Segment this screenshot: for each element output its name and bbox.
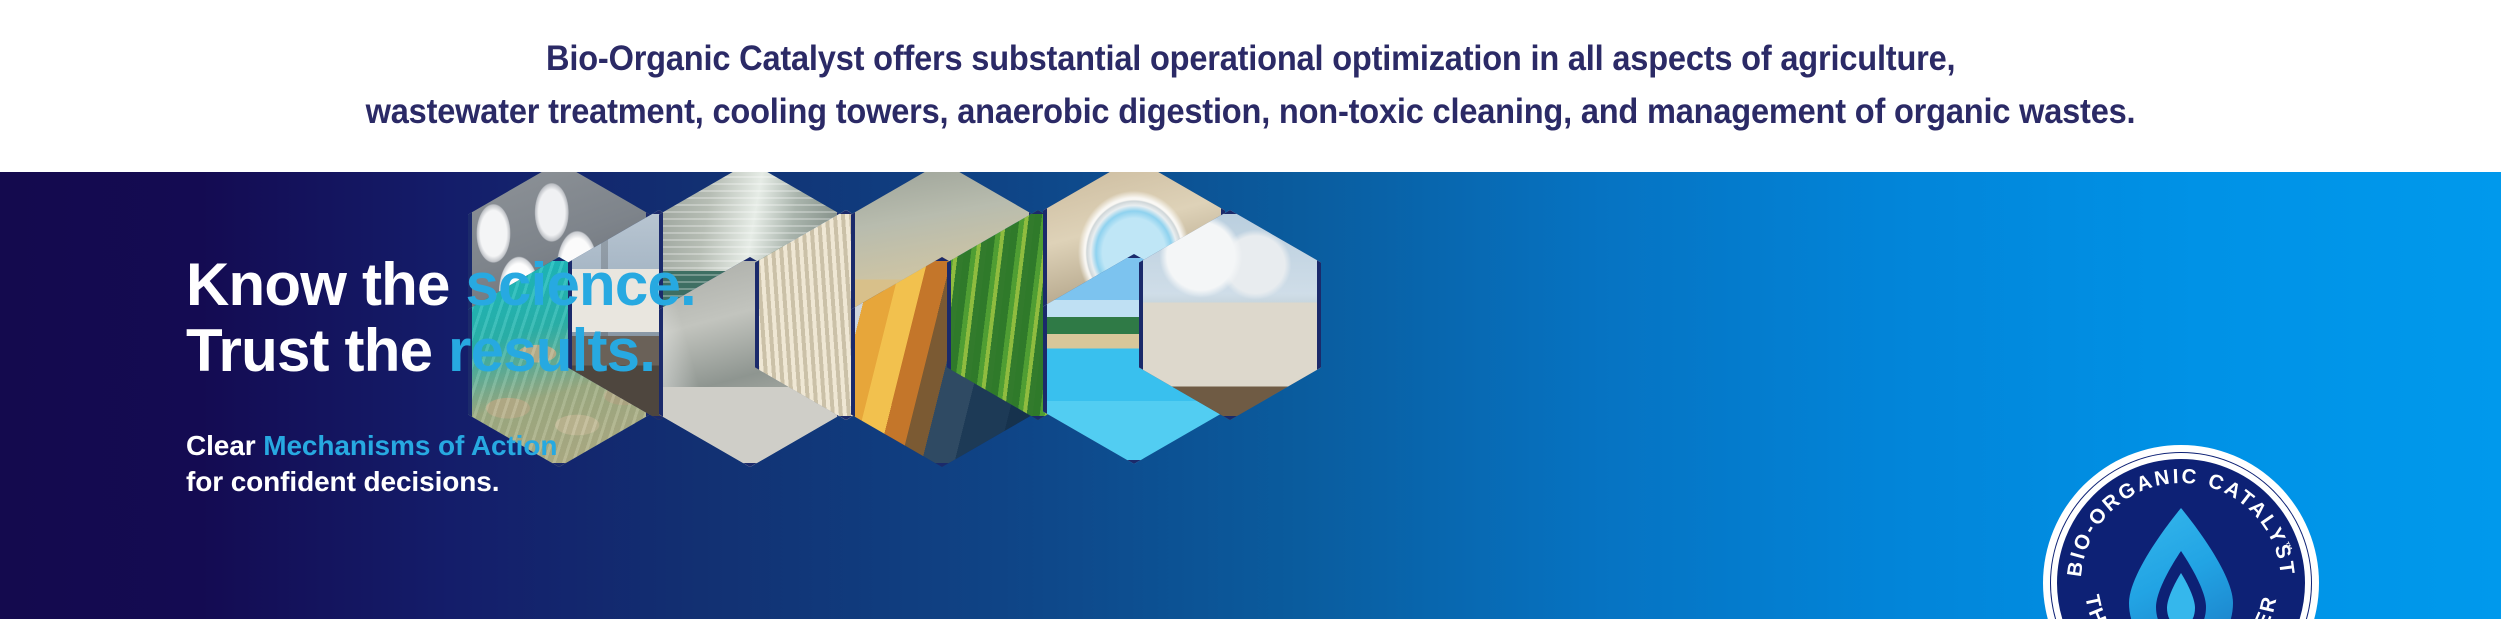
intro-line-2: wastewater treatment, cooling towers, an…	[366, 91, 2136, 134]
brand-seal-svg: BIO-ORGANIC CATALYST THE POWER IN WATER …	[2050, 452, 2312, 619]
intro-line-1: Bio-Organic Catalyst offers substantial …	[546, 38, 1955, 81]
headline-line-2-plain: Trust the	[186, 317, 448, 384]
headline-line-2-accent: results.	[448, 317, 655, 384]
headline-line-1-plain: Know the	[186, 251, 465, 318]
banner-copy-block: Know the science. Trust the results. Cle…	[186, 252, 806, 501]
banner-page: Bio-Organic Catalyst offers substantial …	[0, 0, 2501, 619]
headline-line-1-accent: science.	[465, 251, 695, 318]
water-droplet-icon	[2129, 508, 2233, 619]
subcopy-block: Clear Mechanisms of Action for confident…	[186, 428, 806, 501]
headline-line-1: Know the science.	[186, 252, 806, 318]
subcopy-line-2: for confident decisions.	[186, 464, 806, 500]
subcopy-line-1-accent: Mechanisms of Action	[263, 430, 557, 461]
subcopy-line-1-plain: Clear	[186, 430, 263, 461]
intro-strip: Bio-Organic Catalyst offers substantial …	[0, 0, 2501, 172]
brand-seal[interactable]: BIO-ORGANIC CATALYST THE POWER IN WATER …	[2050, 452, 2312, 619]
headline-line-2: Trust the results.	[186, 318, 806, 384]
subcopy-line-1: Clear Mechanisms of Action	[186, 428, 806, 464]
hero-banner: Know the science. Trust the results. Cle…	[0, 172, 2501, 619]
